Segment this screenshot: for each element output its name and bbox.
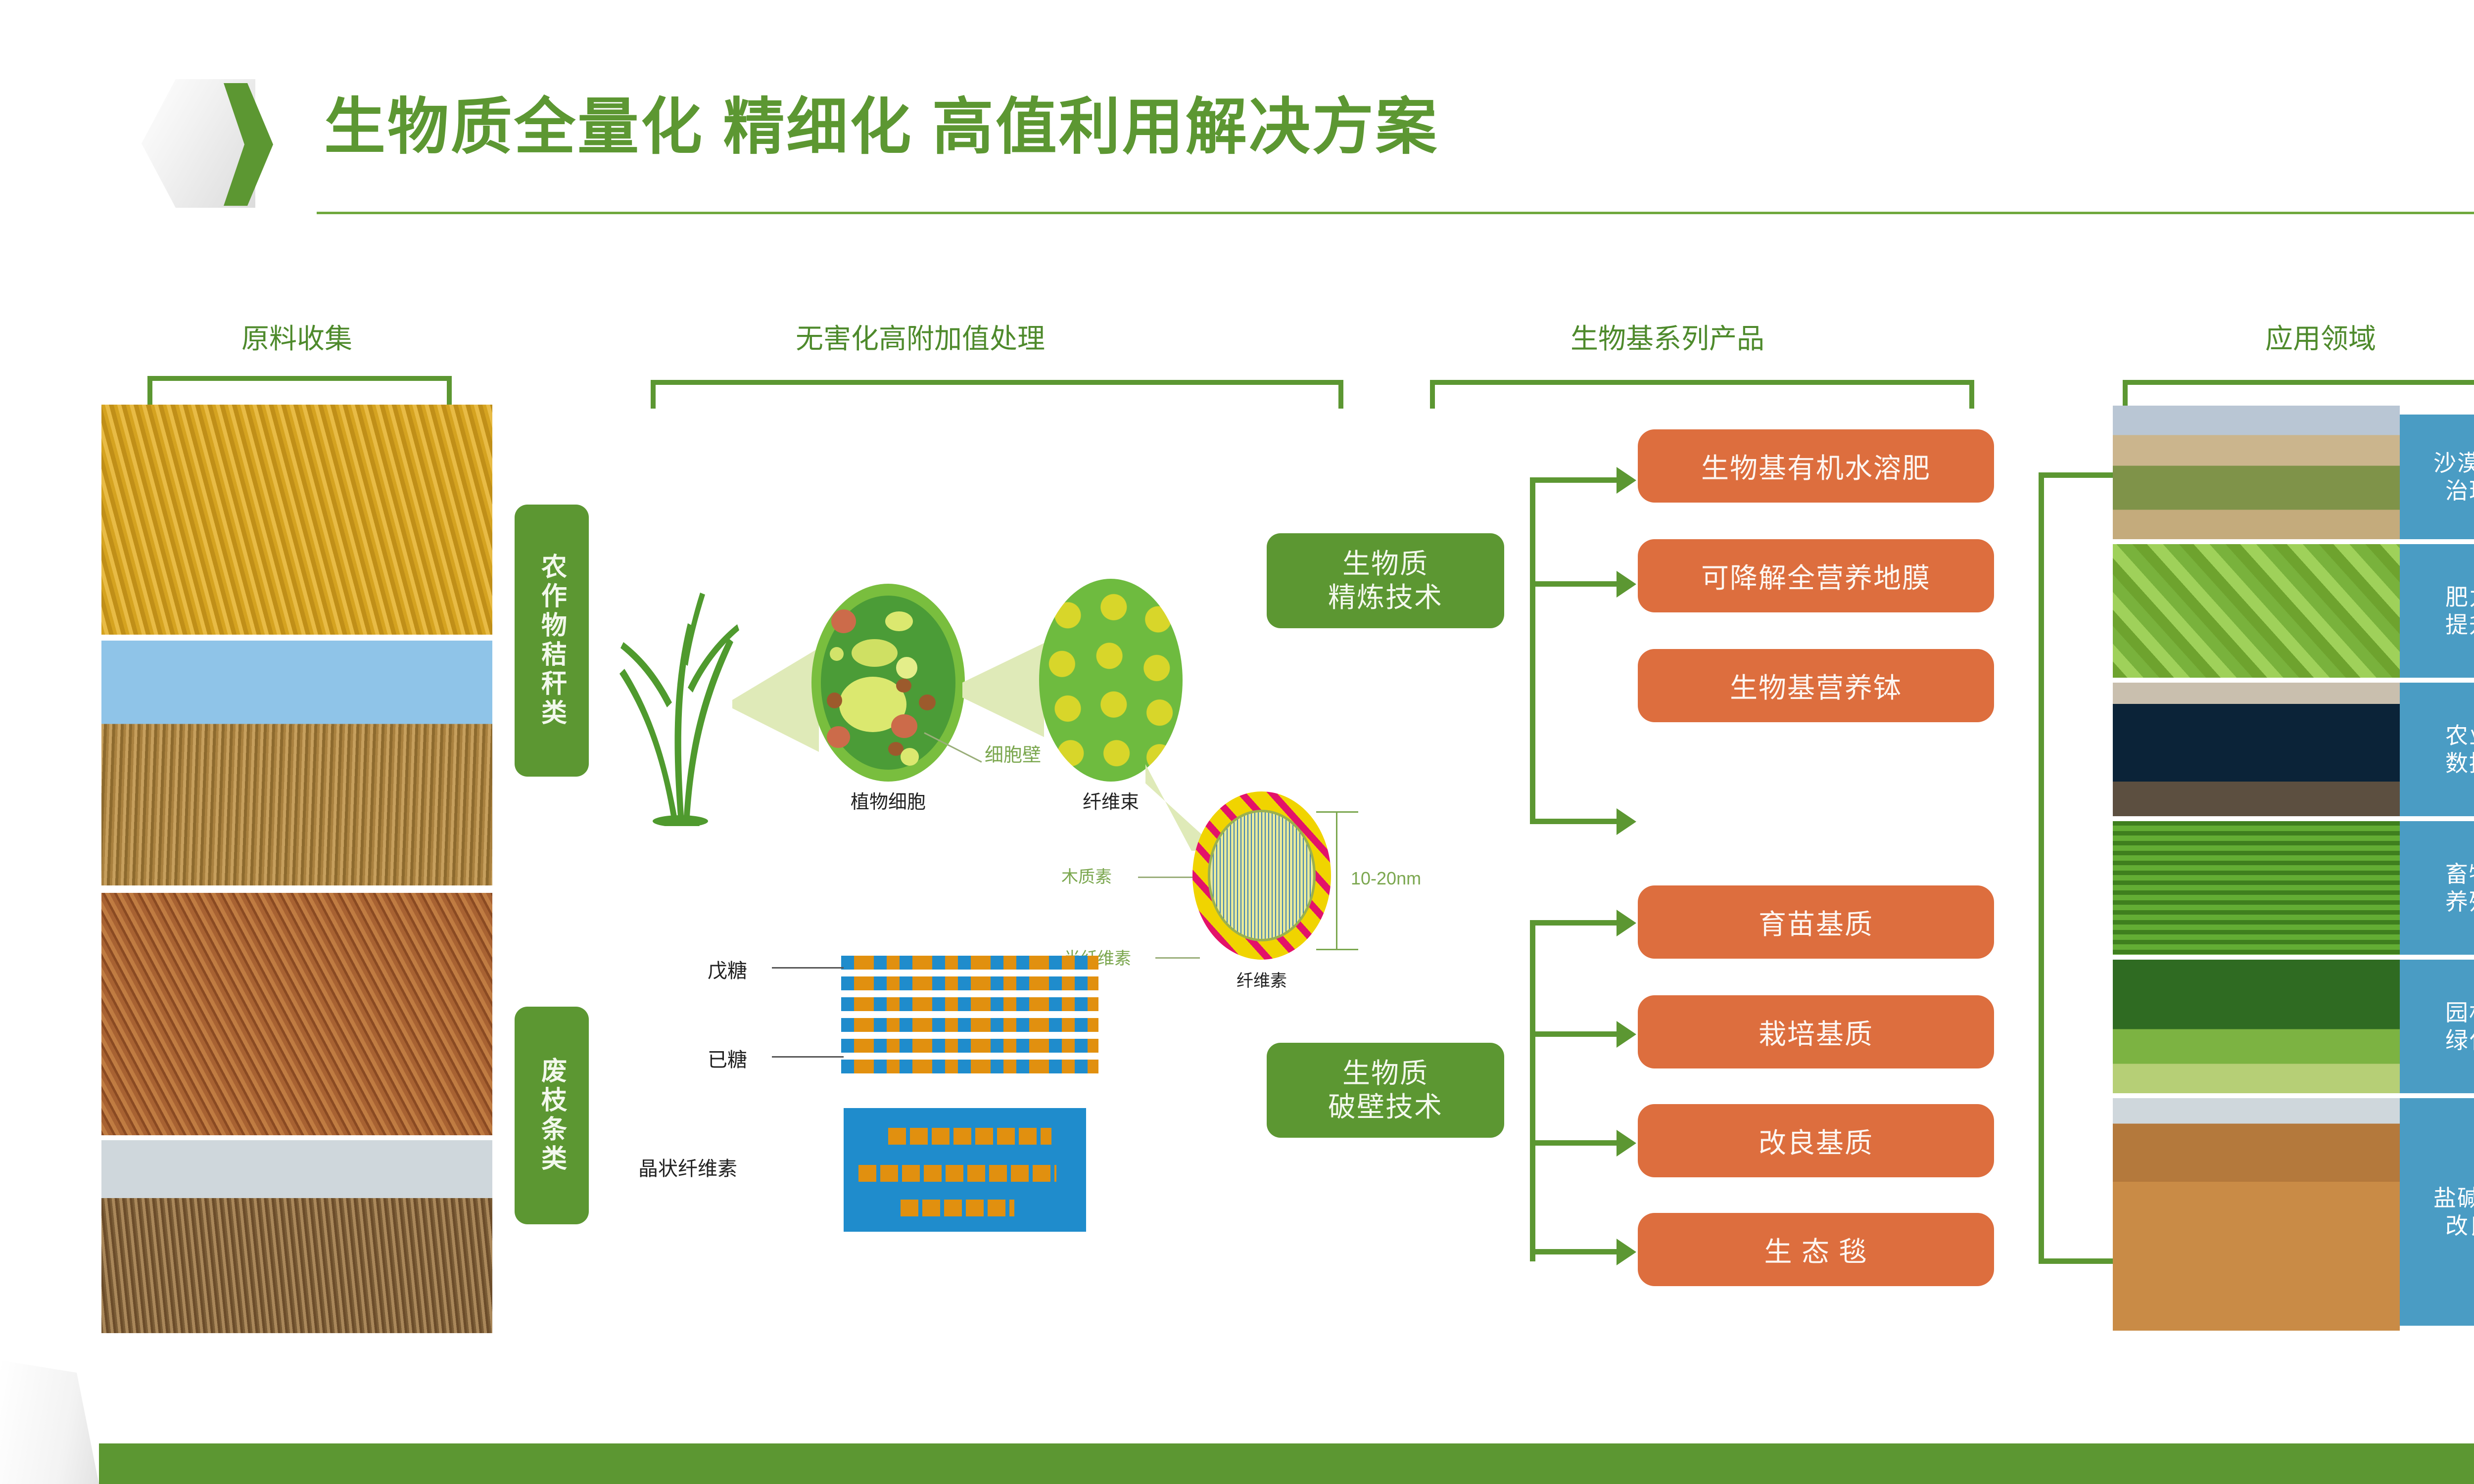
feedstock-photo-1 bbox=[101, 405, 492, 635]
application-label-desertification-line1: 沙漠化 bbox=[2433, 449, 2474, 477]
connector-cellwall-spine bbox=[1530, 920, 1535, 1261]
connector-applications-spine bbox=[2039, 472, 2044, 1264]
application-photo-saline-alkali bbox=[2113, 1098, 2400, 1331]
lignin-leader-line bbox=[1138, 877, 1192, 878]
connector-refining-branch-3 bbox=[1530, 819, 1621, 824]
label-cellulose: 纤维素 bbox=[1192, 967, 1331, 991]
title-divider bbox=[317, 212, 2474, 214]
label-lignin: 木质素 bbox=[1061, 863, 1112, 887]
arrow-refining-3 bbox=[1617, 808, 1636, 835]
stage-bracket-applications bbox=[2123, 380, 2474, 409]
product-box-nutrient-pot[interactable]: 生物基营养钵 bbox=[1638, 649, 1994, 722]
crystalline-cellulose-illustration bbox=[844, 1108, 1086, 1232]
stage-header-products: 生物基系列产品 bbox=[1390, 317, 1945, 357]
application-photo-agri-data bbox=[2113, 683, 2400, 816]
product-box-improvement-substrate[interactable]: 改良基质 bbox=[1638, 1104, 1994, 1177]
plant-cell-illustration bbox=[811, 584, 965, 782]
grass-plant-illustration bbox=[614, 539, 747, 826]
hemicellulose-leader-line bbox=[1155, 957, 1200, 959]
arrow-cellwall-2 bbox=[1617, 1021, 1636, 1048]
sugar-chain-illustration bbox=[841, 950, 1098, 1073]
connector-cellwall-branch-2 bbox=[1530, 1031, 1621, 1037]
application-label-landscaping-line1: 园林 bbox=[2445, 999, 2474, 1026]
arrow-cellwall-4 bbox=[1617, 1239, 1636, 1265]
label-crystalline-cellulose: 晶状纤维素 bbox=[638, 1153, 737, 1181]
scale-bar-bottom-tick bbox=[1316, 949, 1358, 950]
connector-cellwall-branch-3 bbox=[1530, 1140, 1621, 1146]
label-plant-cell: 植物细胞 bbox=[811, 787, 965, 814]
feedstock-photo-3 bbox=[101, 893, 492, 1135]
arrow-refining-1 bbox=[1617, 467, 1636, 494]
feedstock-tag-waste-branch: 废枝条类 bbox=[515, 1007, 589, 1224]
tech-box-cellwall-breaking[interactable]: 生物质 破壁技术 bbox=[1267, 1043, 1504, 1138]
fiber-bundle-illustration bbox=[1039, 579, 1183, 782]
application-label-livestock-line2: 养殖 bbox=[2445, 888, 2474, 916]
application-label-fertility-line2: 提升 bbox=[2445, 611, 2474, 639]
application-label-saline-alkali[interactable]: 盐碱地 改良 bbox=[2400, 1098, 2474, 1326]
application-label-landscaping[interactable]: 园林 绿化 bbox=[2400, 960, 2474, 1093]
connector-cellwall-branch-4 bbox=[1530, 1249, 1621, 1254]
hexose-leader-line bbox=[772, 1056, 844, 1058]
application-label-desertification-line2: 治理 bbox=[2445, 477, 2474, 505]
application-label-livestock[interactable]: 畜牧 养殖 bbox=[2400, 821, 2474, 955]
product-box-seedling-substrate[interactable]: 育苗基质 bbox=[1638, 885, 1994, 959]
label-scale-value: 10-20nm bbox=[1351, 868, 1421, 889]
product-box-cultivation-substrate[interactable]: 栽培基质 bbox=[1638, 995, 1994, 1068]
application-photo-fertility bbox=[2113, 544, 2400, 678]
application-photo-landscaping bbox=[2113, 960, 2400, 1093]
stage-bracket-products bbox=[1430, 380, 1974, 409]
connector-refining-spine bbox=[1530, 477, 1535, 824]
page-title: 生物质全量化 精细化 高值利用解决方案 bbox=[324, 96, 1439, 158]
label-fiber-bundle: 纤维束 bbox=[1039, 787, 1183, 814]
feedstock-tag-crop-straw: 农作物秸秆类 bbox=[515, 505, 589, 777]
application-label-saline-alkali-line2: 改良 bbox=[2445, 1212, 2474, 1240]
application-label-agri-data-line1: 农业 bbox=[2445, 722, 2474, 749]
stage-bracket-processing bbox=[651, 380, 1343, 409]
scale-bar bbox=[1336, 811, 1337, 950]
label-cell-wall: 细胞壁 bbox=[985, 740, 1041, 767]
footer-accent-bar bbox=[99, 1443, 2474, 1484]
product-box-water-soluble-fertilizer[interactable]: 生物基有机水溶肥 bbox=[1638, 429, 1994, 503]
tech-box-cellwall-line2: 破壁技术 bbox=[1328, 1090, 1443, 1124]
application-label-saline-alkali-line1: 盐碱地 bbox=[2433, 1184, 2474, 1212]
scale-bar-top-tick bbox=[1316, 811, 1358, 813]
application-photo-livestock bbox=[2113, 821, 2400, 955]
application-label-fertility-line1: 肥力 bbox=[2445, 583, 2474, 611]
stage-header-processing: 无害化高附加值处理 bbox=[524, 317, 1316, 357]
product-box-biodegradable-mulch-film[interactable]: 可降解全营养地膜 bbox=[1638, 539, 1994, 612]
arrow-cellwall-1 bbox=[1617, 910, 1636, 936]
feedstock-photo-4 bbox=[101, 1140, 492, 1333]
application-label-livestock-line1: 畜牧 bbox=[2445, 860, 2474, 888]
application-photo-desertification bbox=[2113, 406, 2400, 539]
label-hexose: 已糖 bbox=[708, 1044, 747, 1072]
cellulose-microfibril-illustration bbox=[1192, 791, 1331, 960]
arrow-refining-2 bbox=[1617, 571, 1636, 598]
connector-refining-branch-2 bbox=[1530, 581, 1621, 587]
connector-refining-branch-1 bbox=[1530, 477, 1621, 483]
stage-header-applications: 应用领域 bbox=[2068, 317, 2474, 357]
pentose-leader-line bbox=[772, 967, 844, 969]
application-label-agri-data-line2: 数据 bbox=[2445, 749, 2474, 777]
connector-cellwall-branch-1 bbox=[1530, 920, 1621, 926]
arrow-cellwall-3 bbox=[1617, 1130, 1636, 1157]
application-label-agri-data[interactable]: 农业 数据 bbox=[2400, 683, 2474, 816]
application-label-landscaping-line2: 绿化 bbox=[2445, 1026, 2474, 1054]
stage-bracket-feedstock bbox=[147, 376, 452, 405]
label-pentose: 戊糖 bbox=[708, 955, 747, 983]
stage-header-feedstock: 原料收集 bbox=[139, 317, 455, 357]
tech-box-cellwall-line1: 生物质 bbox=[1342, 1057, 1428, 1090]
tech-box-refining[interactable]: 生物质 精炼技术 bbox=[1267, 533, 1504, 628]
application-label-fertility[interactable]: 肥力 提升 bbox=[2400, 544, 2474, 678]
magnify-cone-2 bbox=[962, 643, 1044, 737]
tech-box-refining-line1: 生物质 bbox=[1342, 547, 1428, 581]
tech-box-refining-line2: 精炼技术 bbox=[1328, 581, 1443, 614]
product-box-ecological-blanket[interactable]: 生 态 毯 bbox=[1638, 1213, 1994, 1286]
application-label-desertification[interactable]: 沙漠化 治理 bbox=[2400, 415, 2474, 539]
feedstock-photo-2 bbox=[101, 641, 492, 885]
